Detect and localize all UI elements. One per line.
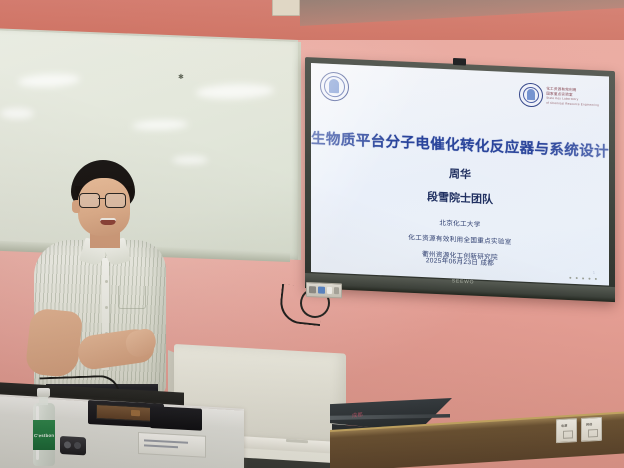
bottle-neck: [39, 396, 48, 405]
whiteboard-marking: ✱: [178, 75, 183, 81]
wooden-tray: [96, 404, 158, 422]
ceiling-mounted-plate: [272, 0, 300, 16]
slide-team-name: 段雪院士团队: [311, 183, 609, 213]
whiteboard-glare: [172, 156, 208, 164]
lab-logo-line-en-2: of Chemical Resource Engineering: [546, 101, 599, 107]
lecture-room-photo: ✱ 化工资源有效利用 国家重点实验室 State Key Laboratory …: [0, 0, 624, 468]
wall-outlet-network[interactable]: 网络: [581, 417, 602, 442]
beijing-university-of-chemical-technology-seal-icon: [320, 71, 350, 102]
camera-icon: [453, 58, 466, 66]
wall-switch-panel[interactable]: [306, 282, 342, 298]
outlet-label-power: 电源: [561, 424, 567, 428]
state-key-laboratory-emblem-icon: 化工资源有效利用 国家重点实验室 State Key Laboratory of…: [519, 82, 599, 110]
shirt-button: [105, 306, 108, 309]
slide-title: 生物质平台分子电催化转化反应器与系统设计: [311, 127, 609, 162]
wall-outlet-power[interactable]: 电源: [556, 418, 577, 443]
panel-screen[interactable]: 化工资源有效利用 国家重点实验室 State Key Laboratory of…: [311, 63, 609, 286]
presenter-mouth: [100, 218, 116, 225]
bottle-label: C'estbon: [33, 420, 55, 450]
presentation-slide: 化工资源有效利用 国家重点实验室 State Key Laboratory of…: [311, 63, 609, 286]
remote-control: [60, 436, 86, 455]
paper-slip: [138, 432, 206, 458]
outlet-label-network: 网络: [586, 422, 592, 426]
shirt-pocket: [118, 286, 146, 309]
bottle-cap: [37, 388, 50, 397]
bottle-brand-text: C'estbon: [34, 432, 54, 437]
eyeglasses-icon: [79, 193, 127, 206]
interactive-flat-panel[interactable]: 化工资源有效利用 国家重点实验室 State Key Laboratory of…: [305, 57, 615, 293]
wall-outlet-plates[interactable]: 电源 网络: [556, 417, 602, 441]
whiteboard-glare: [0, 108, 34, 119]
slide-page-number: 1: [593, 270, 595, 275]
shirt-button: [105, 280, 108, 283]
black-control-unit: [150, 406, 202, 431]
water-bottle: C'estbon: [32, 388, 56, 466]
